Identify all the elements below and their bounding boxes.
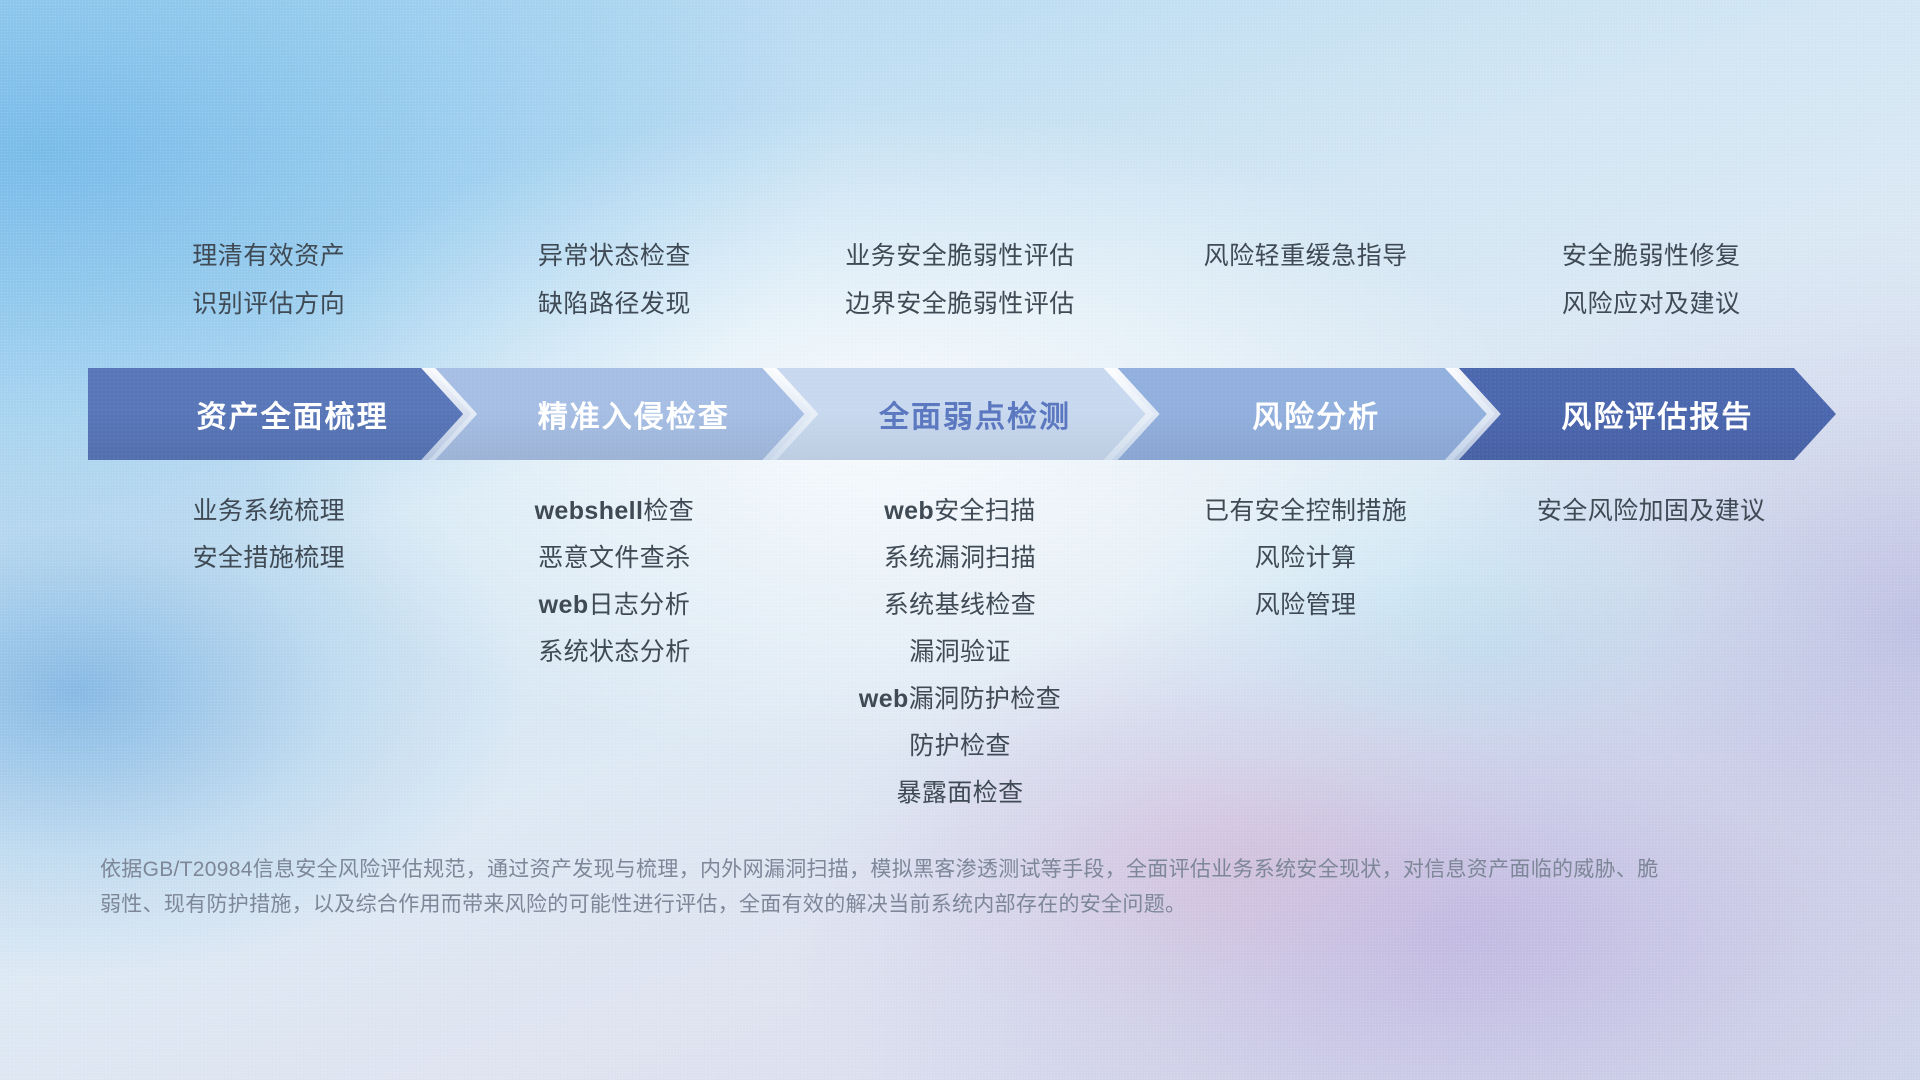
- detail-item-latin: web: [884, 497, 934, 525]
- detail-item-text: 业务系统梳理: [193, 497, 345, 525]
- detail-list-item: 恶意文件查杀: [442, 535, 788, 582]
- detail-item-text: 漏洞验证: [909, 638, 1011, 666]
- top-label-line: 安全脆弱性修复: [1478, 232, 1824, 280]
- detail-item-text: 漏洞防护检查: [909, 685, 1061, 713]
- top-label-line: 理清有效资产: [96, 232, 442, 280]
- slide-content: 理清有效资产识别评估方向异常状态检查缺陷路径发现业务安全脆弱性评估边界安全脆弱性…: [0, 0, 1920, 1080]
- detail-list-group-2: webshell检查恶意文件查杀web日志分析系统状态分析: [442, 488, 788, 676]
- top-label-group-1: 理清有效资产识别评估方向: [96, 232, 442, 328]
- top-label-line: 识别评估方向: [96, 280, 442, 328]
- detail-item-latin: web: [539, 591, 589, 619]
- detail-list-item: 系统漏洞扫描: [787, 535, 1133, 582]
- detail-item-text: 系统漏洞扫描: [884, 544, 1036, 572]
- top-label-group-2: 异常状态检查缺陷路径发现: [442, 232, 788, 328]
- footer-paragraph: 依据GB/T20984信息安全风险评估规范，通过资产发现与梳理，内外网漏洞扫描，…: [100, 852, 1660, 922]
- top-label-group-3: 业务安全脆弱性评估边界安全脆弱性评估: [787, 232, 1133, 328]
- detail-item-text: 系统基线检查: [884, 591, 1036, 619]
- detail-list-item: 安全风险加固及建议: [1478, 488, 1824, 535]
- detail-list-item: 防护检查: [787, 723, 1133, 770]
- process-stage-4[interactable]: 风险分析: [1112, 368, 1495, 460]
- detail-list-row: 业务系统梳理安全措施梳理webshell检查恶意文件查杀web日志分析系统状态分…: [96, 488, 1824, 817]
- detail-list-group-1: 业务系统梳理安全措施梳理: [96, 488, 442, 582]
- detail-list-group-4: 已有安全控制措施风险计算风险管理: [1133, 488, 1479, 629]
- process-stage-label: 风险评估报告: [1535, 392, 1753, 436]
- process-stage-5[interactable]: 风险评估报告: [1453, 368, 1836, 460]
- detail-item-text: 已有安全控制措施: [1204, 497, 1407, 525]
- detail-list-item: 系统状态分析: [442, 629, 788, 676]
- detail-list-item: 暴露面检查: [787, 770, 1133, 817]
- detail-item-text: 风险管理: [1255, 591, 1357, 619]
- detail-list-item: webshell检查: [442, 488, 788, 535]
- detail-list-item: web漏洞防护检查: [787, 676, 1133, 723]
- top-label-line: 业务安全脆弱性评估: [787, 232, 1133, 280]
- detail-item-text: 安全措施梳理: [193, 544, 345, 572]
- detail-list-item: web日志分析: [442, 582, 788, 629]
- detail-item-text: 日志分析: [589, 591, 691, 619]
- detail-item-text: 暴露面检查: [896, 779, 1023, 807]
- top-label-line: 风险应对及建议: [1478, 280, 1824, 328]
- detail-item-text: 风险计算: [1255, 544, 1357, 572]
- process-stage-1[interactable]: 资产全面梳理: [88, 368, 471, 460]
- detail-item-text: 安全扫描: [934, 497, 1036, 525]
- detail-item-latin: web: [859, 685, 909, 713]
- process-stage-3[interactable]: 全面弱点检测: [770, 368, 1153, 460]
- top-label-group-4: 风险轻重缓急指导: [1133, 232, 1479, 328]
- detail-item-text: 检查: [643, 497, 694, 525]
- detail-item-text: 系统状态分析: [538, 638, 690, 666]
- footer-description: 依据GB/T20984信息安全风险评估规范，通过资产发现与梳理，内外网漏洞扫描，…: [100, 852, 1660, 922]
- detail-list-item: 安全措施梳理: [96, 535, 442, 582]
- top-label-line: 异常状态检查: [442, 232, 788, 280]
- detail-item-latin: webshell: [535, 497, 644, 525]
- process-chevron-bar: 资产全面梳理精准入侵检查全面弱点检测风险分析风险评估报告: [88, 368, 1836, 460]
- top-label-line: 缺陷路径发现: [442, 280, 788, 328]
- detail-list-group-3: web安全扫描系统漏洞扫描系统基线检查漏洞验证web漏洞防护检查防护检查暴露面检…: [787, 488, 1133, 817]
- top-label-line: 边界安全脆弱性评估: [787, 280, 1133, 328]
- detail-list-item: web安全扫描: [787, 488, 1133, 535]
- process-stage-label: 风险分析: [1226, 392, 1380, 436]
- top-label-row: 理清有效资产识别评估方向异常状态检查缺陷路径发现业务安全脆弱性评估边界安全脆弱性…: [96, 232, 1824, 328]
- process-stage-label: 全面弱点检测: [853, 392, 1071, 436]
- slide-canvas: 理清有效资产识别评估方向异常状态检查缺陷路径发现业务安全脆弱性评估边界安全脆弱性…: [0, 0, 1920, 1080]
- process-stage-label: 资产全面梳理: [171, 392, 389, 436]
- detail-list-item: 风险管理: [1133, 582, 1479, 629]
- top-label-line: 风险轻重缓急指导: [1133, 232, 1479, 280]
- detail-list-item: 系统基线检查: [787, 582, 1133, 629]
- detail-list-group-5: 安全风险加固及建议: [1478, 488, 1824, 535]
- detail-list-item: 漏洞验证: [787, 629, 1133, 676]
- detail-item-text: 安全风险加固及建议: [1537, 497, 1766, 525]
- process-stage-2[interactable]: 精准入侵检查: [429, 368, 812, 460]
- top-label-group-5: 安全脆弱性修复风险应对及建议: [1478, 232, 1824, 328]
- process-stage-label: 精准入侵检查: [512, 392, 730, 436]
- detail-item-text: 防护检查: [909, 732, 1011, 760]
- detail-item-text: 恶意文件查杀: [538, 544, 690, 572]
- detail-list-item: 业务系统梳理: [96, 488, 442, 535]
- detail-list-item: 风险计算: [1133, 535, 1479, 582]
- detail-list-item: 已有安全控制措施: [1133, 488, 1479, 535]
